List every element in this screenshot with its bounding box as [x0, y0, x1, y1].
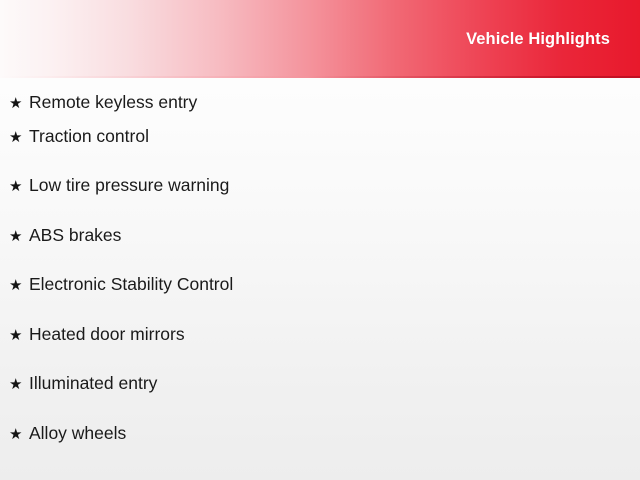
- list-item-label: Electronic Stability Control: [29, 276, 233, 294]
- page-title: Vehicle Highlights: [466, 31, 640, 48]
- star-icon: ★: [9, 278, 29, 293]
- star-icon: ★: [9, 229, 29, 244]
- list-item: ★ ABS brakes: [0, 227, 640, 277]
- list-item-label: Illuminated entry: [29, 375, 157, 393]
- star-icon: ★: [9, 377, 29, 392]
- list-item: ★ Remote keyless entry: [0, 78, 640, 128]
- highlights-list: ★ Remote keyless entry ★ Traction contro…: [0, 78, 640, 474]
- list-item-label: Heated door mirrors: [29, 326, 185, 344]
- star-icon: ★: [9, 96, 29, 111]
- list-item-label: Low tire pressure warning: [29, 177, 229, 195]
- list-item-label: Alloy wheels: [29, 425, 126, 443]
- vehicle-highlights-slide: Vehicle Highlights ★ Remote keyless entr…: [0, 0, 640, 480]
- list-item: ★ Heated door mirrors: [0, 326, 640, 376]
- list-item-label: Remote keyless entry: [29, 94, 197, 112]
- star-icon: ★: [9, 179, 29, 194]
- list-item-label: ABS brakes: [29, 227, 121, 245]
- list-item: ★ Traction control: [0, 128, 640, 178]
- list-item: ★ Electronic Stability Control: [0, 276, 640, 326]
- list-item-label: Traction control: [29, 128, 149, 146]
- star-icon: ★: [9, 328, 29, 343]
- header-banner: Vehicle Highlights: [0, 0, 640, 78]
- list-item: ★ Low tire pressure warning: [0, 177, 640, 227]
- star-icon: ★: [9, 427, 29, 442]
- list-item: ★ Alloy wheels: [0, 425, 640, 475]
- list-item: ★ Illuminated entry: [0, 375, 640, 425]
- star-icon: ★: [9, 130, 29, 145]
